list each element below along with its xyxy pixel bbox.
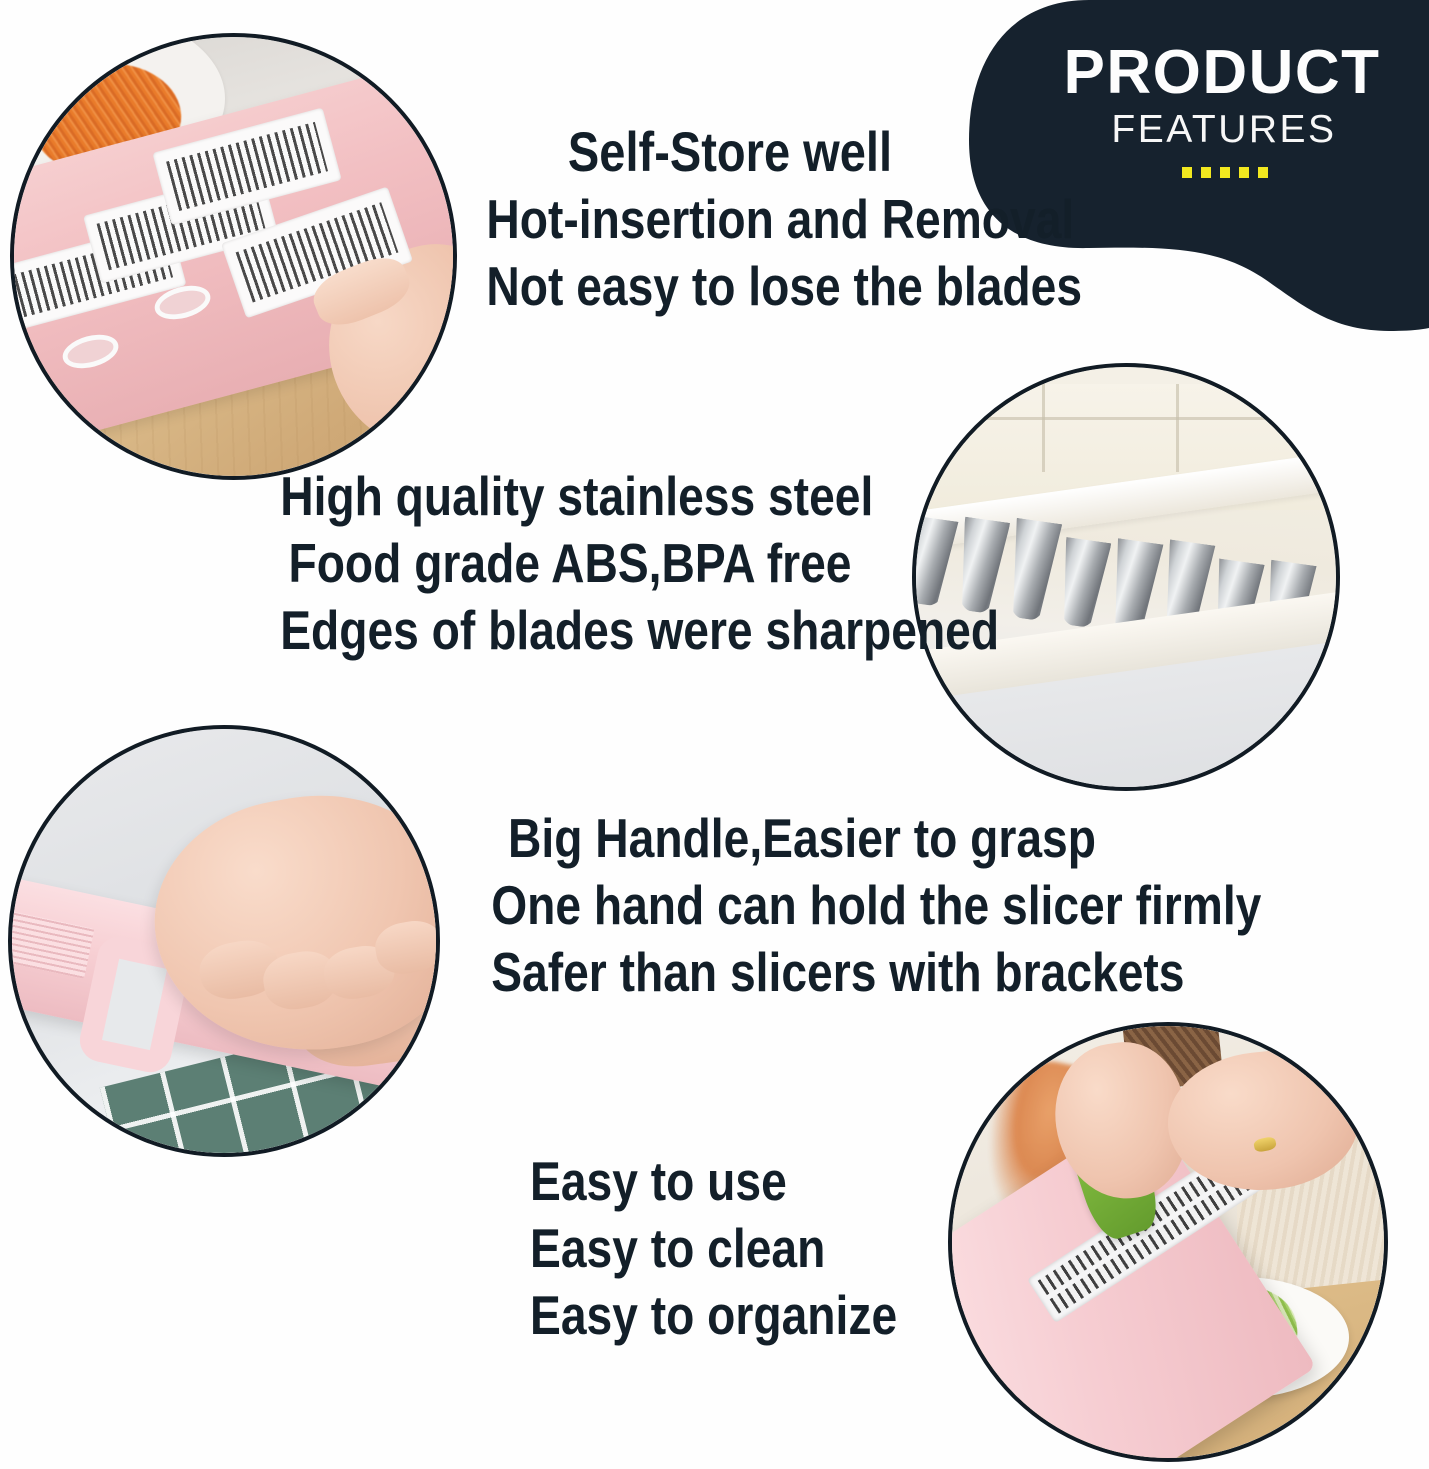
photo-blade-macro-inner: [916, 367, 1336, 787]
feature-line-handle-3: Safer than slicers with brackets: [491, 939, 1113, 1006]
panel-seam-2: [1176, 384, 1179, 472]
feature-block-handle: Big Handle,Easier to graspOne hand can h…: [432, 805, 1172, 1006]
photo-in-use-inner: [952, 1026, 1384, 1458]
feature-line-handle-1: Big Handle,Easier to grasp: [491, 805, 1113, 872]
feature-line-easy-2: Easy to clean: [530, 1215, 883, 1282]
badge-title: PRODUCT: [1063, 42, 1380, 104]
product-photo-in-use: [948, 1022, 1388, 1462]
feature-block-material: High quality stainless steelFood grade A…: [225, 463, 915, 664]
badge-dot-row: [1182, 167, 1268, 178]
badge-subtitle: FEATURES: [1111, 110, 1336, 151]
photo-big-handle-inner: [12, 729, 436, 1153]
badge-dot-3: [1220, 167, 1230, 178]
feature-line-easy-1: Easy to use: [530, 1148, 883, 1215]
badge-dot-5: [1258, 167, 1268, 178]
feature-line-self-store-3: Not easy to lose the blades: [486, 253, 973, 320]
blade-tooth-1: [916, 516, 958, 608]
panel-seam-horizontal: [950, 417, 1303, 420]
feature-line-material-2: Food grade ABS,BPA free: [280, 530, 860, 597]
feature-line-self-store-2: Hot-insertion and Removal: [486, 186, 973, 253]
product-photo-blade-macro: [912, 363, 1340, 791]
blade-tooth-4: [1054, 537, 1111, 629]
badge-dot-2: [1201, 167, 1211, 178]
badge-dot-1: [1182, 167, 1192, 178]
feature-line-easy-3: Easy to organize: [530, 1282, 883, 1349]
feature-block-easy: Easy to useEasy to cleanEasy to organize: [530, 1148, 950, 1349]
feature-block-self-store: Self-Store wellHot-insertion and Removal…: [440, 118, 1020, 321]
feature-line-material-1: High quality stainless steel: [280, 463, 860, 530]
product-photo-big-handle: [8, 725, 440, 1157]
product-photo-self-store: [10, 33, 457, 480]
blade-tooth-3: [1003, 518, 1062, 622]
badge-dot-4: [1239, 167, 1249, 178]
feature-line-material-3: Edges of blades were sharpened: [280, 597, 860, 664]
feature-line-self-store-1: Self-Store well: [486, 118, 973, 186]
panel-seam-1: [1042, 384, 1045, 472]
feature-line-handle-2: One hand can hold the slicer firmly: [491, 872, 1113, 939]
photo-self-store-inner: [14, 37, 453, 476]
